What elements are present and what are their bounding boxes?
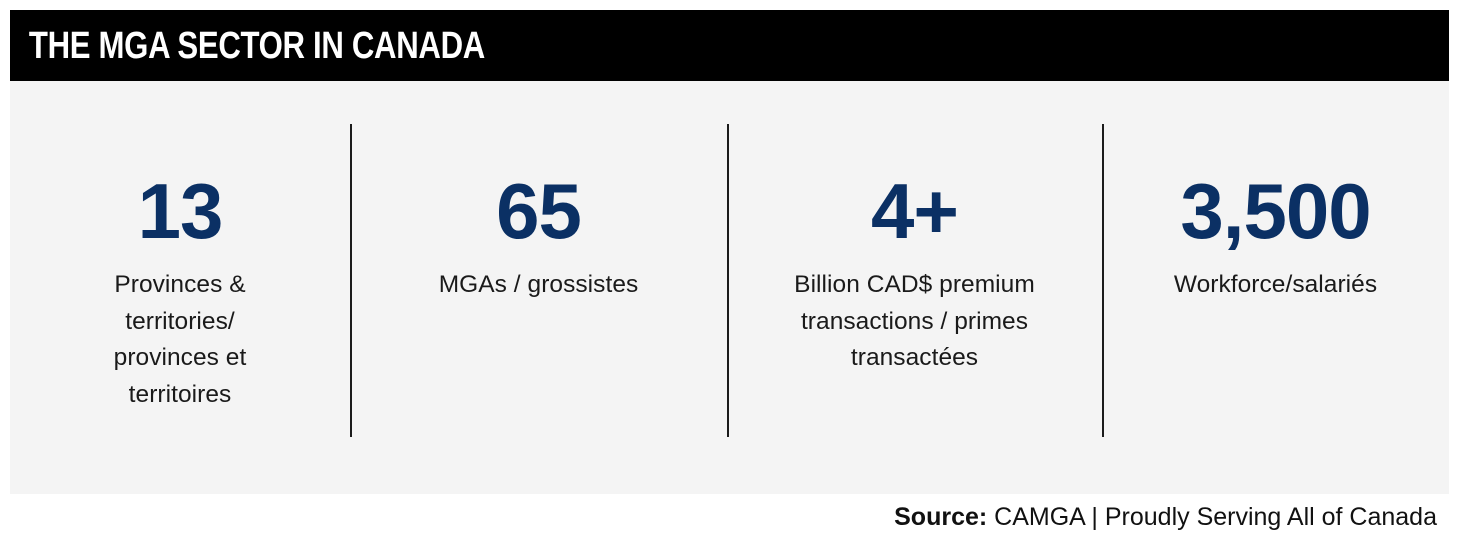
stat-block-mgas: 65 MGAs / grossistes (350, 81, 727, 304)
source-value: CAMGA | Proudly Serving All of Canada (994, 503, 1437, 531)
stat-label: Workforce/salariés (1174, 267, 1377, 304)
column-divider (1102, 124, 1104, 437)
stat-value: 13 (138, 175, 223, 247)
stat-label: MGAs / grossistes (439, 267, 639, 304)
stat-label: Provinces & territories/ provinces et te… (80, 267, 280, 413)
stats-panel: 13 Provinces & territories/ provinces et… (10, 81, 1449, 494)
column-divider (727, 124, 729, 437)
stat-block-premium-transactions: 4+ Billion CAD$ premium transactions / p… (727, 81, 1102, 377)
mga-sector-infographic: THE MGA SECTOR IN CANADA 13 Provinces & … (0, 0, 1459, 539)
page-title: THE MGA SECTOR IN CANADA (10, 27, 485, 65)
column-divider (350, 124, 352, 437)
stat-block-provinces: 13 Provinces & territories/ provinces et… (10, 81, 350, 413)
source-attribution: Source: CAMGA | Proudly Serving All of C… (10, 494, 1449, 539)
stat-value: 3,500 (1180, 175, 1370, 247)
source-label: Source: (894, 503, 987, 531)
stats-row: 13 Provinces & territories/ provinces et… (10, 81, 1449, 494)
stat-label: Billion CAD$ premium transactions / prim… (765, 267, 1065, 377)
stat-block-workforce: 3,500 Workforce/salariés (1102, 81, 1449, 304)
stat-value: 4+ (871, 175, 958, 247)
stat-value: 65 (496, 175, 581, 247)
source-text: Source: CAMGA | Proudly Serving All of C… (894, 503, 1437, 531)
header-bar: THE MGA SECTOR IN CANADA (10, 10, 1449, 81)
